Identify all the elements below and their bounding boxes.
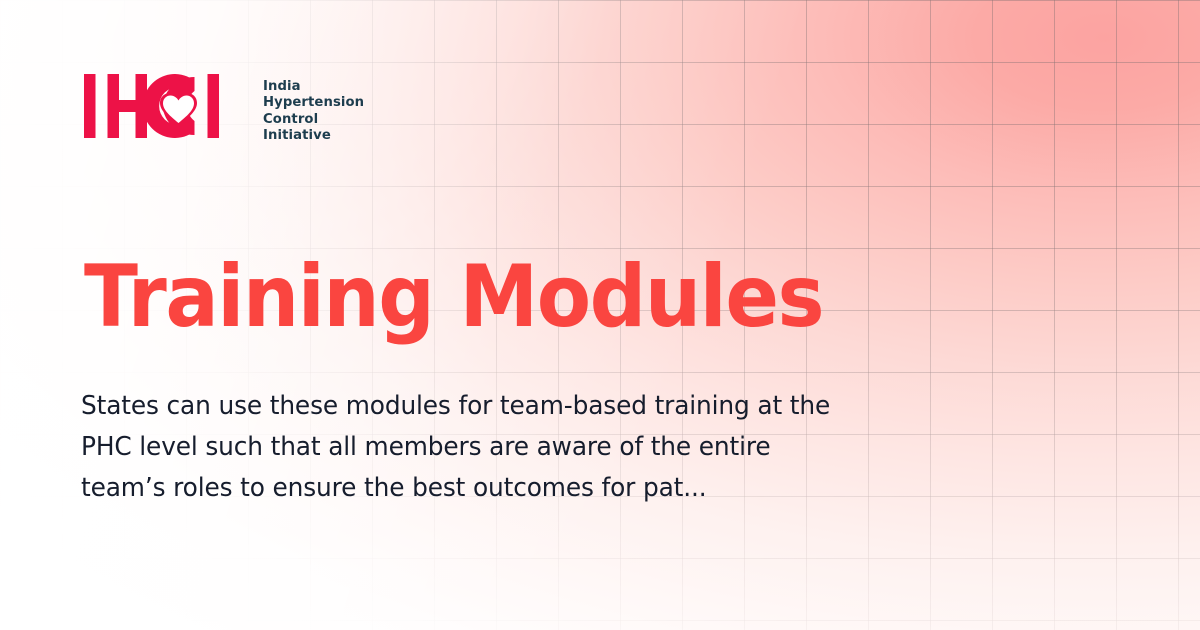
share-card: India Hypertension Control Initiative Tr…: [0, 0, 1200, 630]
card-content: India Hypertension Control Initiative Tr…: [0, 0, 1200, 630]
ihci-logo-mark: [84, 74, 246, 138]
page-description: States can use these modules for team-ba…: [81, 386, 835, 509]
heart-in-c-icon: [143, 74, 197, 138]
page-title: Training Modules: [84, 254, 823, 340]
ihci-logo-tagline: India Hypertension Control Initiative: [263, 74, 364, 145]
ihci-logo-lockup: India Hypertension Control Initiative: [84, 74, 364, 145]
